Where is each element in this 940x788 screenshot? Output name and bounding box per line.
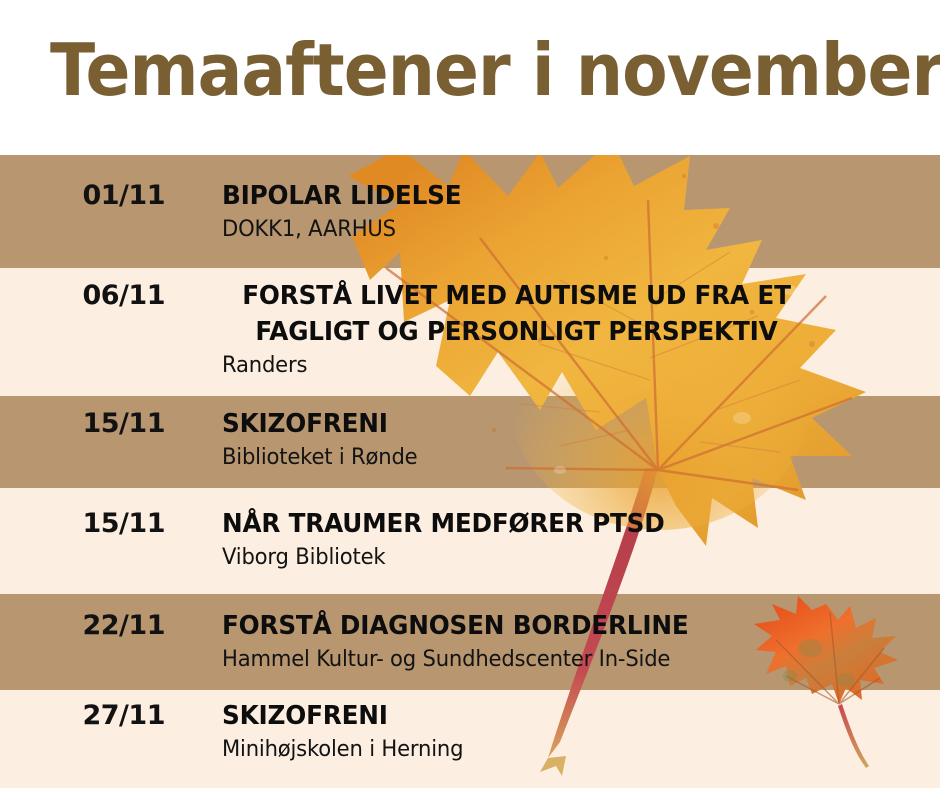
event-date: 27/11 xyxy=(0,698,165,731)
event-row[interactable]: 22/11 FORSTÅ DIAGNOSEN BORDERLINE Hammel… xyxy=(0,608,940,676)
event-row[interactable]: 27/11 SKIZOFRENI Minihøjskolen i Herning xyxy=(0,698,940,766)
event-title: SKIZOFRENI xyxy=(222,406,415,442)
event-title: SKIZOFRENI xyxy=(222,698,461,734)
event-title: NÅR TRAUMER MEDFØRER PTSD xyxy=(222,506,665,542)
event-venue: Hammel Kultur- og Sundhedscenter In-Side xyxy=(222,644,693,676)
event-date: 22/11 xyxy=(0,608,165,641)
event-date: 15/11 xyxy=(0,406,165,439)
poster: Temaaftener i november 01/11 BIPOLAR LID… xyxy=(0,0,940,788)
event-row[interactable]: 06/11 FORSTÅ LIVET MED AUTISME UD FRA ET… xyxy=(0,278,940,382)
event-row[interactable]: 15/11 NÅR TRAUMER MEDFØRER PTSD Viborg B… xyxy=(0,506,940,574)
event-title: FORSTÅ DIAGNOSEN BORDERLINE xyxy=(222,608,689,644)
event-title: BIPOLAR LIDELSE xyxy=(222,178,461,214)
event-title: FORSTÅ LIVET MED AUTISME UD FRA ET FAGLI… xyxy=(222,278,811,350)
event-row[interactable]: 15/11 SKIZOFRENI Biblioteket i Rønde xyxy=(0,406,940,474)
event-body: NÅR TRAUMER MEDFØRER PTSD Viborg Bibliot… xyxy=(222,506,688,574)
event-venue: Viborg Bibliotek xyxy=(222,542,669,574)
title-area: Temaaftener i november xyxy=(0,0,940,155)
event-date: 01/11 xyxy=(0,178,165,211)
event-venue: Biblioteket i Rønde xyxy=(222,442,417,474)
event-body: BIPOLAR LIDELSE DOKK1, AARHUS xyxy=(222,178,474,246)
event-venue: Randers xyxy=(222,350,817,382)
event-body: SKIZOFRENI Biblioteket i Rønde xyxy=(222,406,426,474)
event-date: 06/11 xyxy=(0,278,165,311)
event-body: FORSTÅ DIAGNOSEN BORDERLINE Hammel Kultu… xyxy=(222,608,713,676)
page-title: Temaaftener i november xyxy=(50,22,940,118)
event-body: SKIZOFRENI Minihøjskolen i Herning xyxy=(222,698,473,766)
event-row[interactable]: 01/11 BIPOLAR LIDELSE DOKK1, AARHUS xyxy=(0,178,940,246)
event-body: FORSTÅ LIVET MED AUTISME UD FRA ET FAGLI… xyxy=(222,278,842,382)
event-venue: Minihøjskolen i Herning xyxy=(222,734,463,766)
event-venue: DOKK1, AARHUS xyxy=(222,214,464,246)
event-date: 15/11 xyxy=(0,506,165,539)
